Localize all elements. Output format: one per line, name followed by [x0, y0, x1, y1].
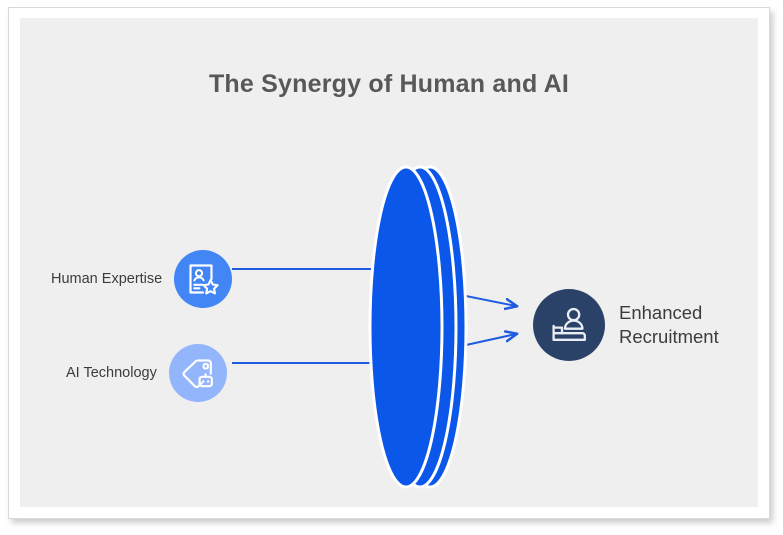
- node-enhanced-recruitment[interactable]: EnhancedRecruitment: [533, 289, 719, 361]
- synergy-lens-shape: [368, 164, 478, 490]
- node-label-line-2: Recruitment: [619, 326, 719, 347]
- resume-profile-star-icon: [174, 250, 232, 308]
- node-enhanced-recruitment-label: EnhancedRecruitment: [619, 301, 719, 349]
- node-human-expertise-label: Human Expertise: [51, 271, 162, 287]
- tag-robot-icon: [169, 344, 227, 402]
- person-bed-care-icon: [533, 289, 605, 361]
- slide-canvas: The Synergy of Human and AI: [20, 18, 758, 507]
- lens-disc-front: [370, 167, 442, 487]
- slide-frame: The Synergy of Human and AI: [8, 7, 770, 519]
- synergy-diagram: Human Expertise: [20, 18, 758, 507]
- node-human-expertise[interactable]: Human Expertise: [51, 250, 232, 308]
- node-ai-technology[interactable]: AI Technology: [66, 344, 227, 402]
- node-ai-technology-label: AI Technology: [66, 365, 157, 381]
- node-label-line-1: Enhanced: [619, 302, 702, 323]
